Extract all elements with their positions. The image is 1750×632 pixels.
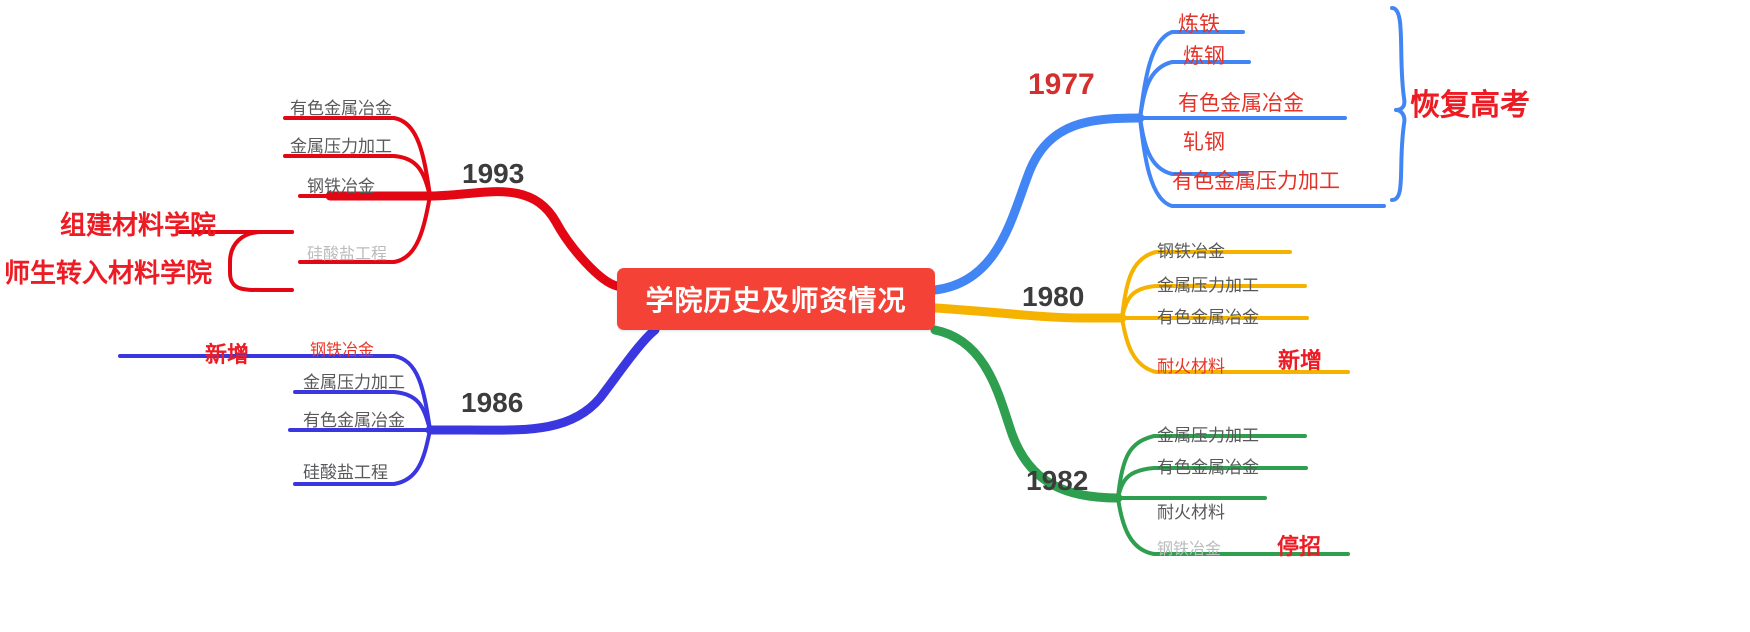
note-added-1980[interactable]: 新增 [1278,343,1322,375]
year-label-1980[interactable]: 1980 [1022,281,1084,313]
leaf-1982-0[interactable]: 金属压力加工 [1157,421,1259,446]
leaf-1980-3[interactable]: 耐火材料 [1157,352,1225,377]
leaf-1993-3[interactable]: 硅酸盐工程 [307,240,387,264]
year-label-1993[interactable]: 1993 [462,158,524,190]
leaf-1982-2[interactable]: 耐火材料 [1157,498,1225,523]
leaf-1977-4[interactable]: 有色金属压力加工 [1172,165,1340,195]
leaf-1980-2[interactable]: 有色金属冶金 [1157,303,1259,328]
branch-line-1977 [935,118,1140,290]
year-label-1982[interactable]: 1982 [1026,465,1088,497]
mindmap-canvas: 学院历史及师资情况 1977 1993 1980 1986 1982 炼铁 炼钢… [0,0,1750,632]
year-label-1977[interactable]: 1977 [1028,68,1095,102]
year-label-1986[interactable]: 1986 [461,387,523,419]
note-restore-gaokao[interactable]: 恢复高考 [1410,80,1530,124]
note-staff-transfer[interactable]: 师生转入材料学院 [4,253,212,290]
leaf-1986-2[interactable]: 有色金属冶金 [303,406,405,431]
note-added-1986[interactable]: 新增 [205,337,249,369]
leaf-1980-0[interactable]: 钢铁冶金 [1157,237,1225,262]
leaf-1993-2[interactable]: 钢铁冶金 [307,172,375,197]
leaf-1986-3[interactable]: 硅酸盐工程 [303,458,388,483]
leaf-1977-0[interactable]: 炼铁 [1178,8,1220,38]
leaf-1977-3[interactable]: 轧钢 [1183,126,1225,156]
branch-line-1993 [330,192,617,286]
leaf-1993-1[interactable]: 金属压力加工 [290,132,392,157]
brace-1977 [1392,8,1404,200]
leaf-1986-1[interactable]: 金属压力加工 [303,368,405,393]
leaf-1993-0[interactable]: 有色金属冶金 [290,94,392,119]
leaf-1986-0[interactable]: 钢铁冶金 [310,336,374,360]
leaf-1977-1[interactable]: 炼钢 [1183,40,1225,70]
note-found-materials-college[interactable]: 组建材料学院 [60,205,216,242]
note-bracket-1993 [230,232,292,290]
leaf-1977-2[interactable]: 有色金属冶金 [1178,87,1304,117]
leaf-1980-1[interactable]: 金属压力加工 [1157,271,1259,296]
leaf-1982-3[interactable]: 钢铁冶金 [1157,535,1221,559]
leaf-1982-1[interactable]: 有色金属冶金 [1157,453,1259,478]
note-stopped-1982[interactable]: 停招 [1277,529,1321,561]
central-topic[interactable]: 学院历史及师资情况 [617,268,935,330]
